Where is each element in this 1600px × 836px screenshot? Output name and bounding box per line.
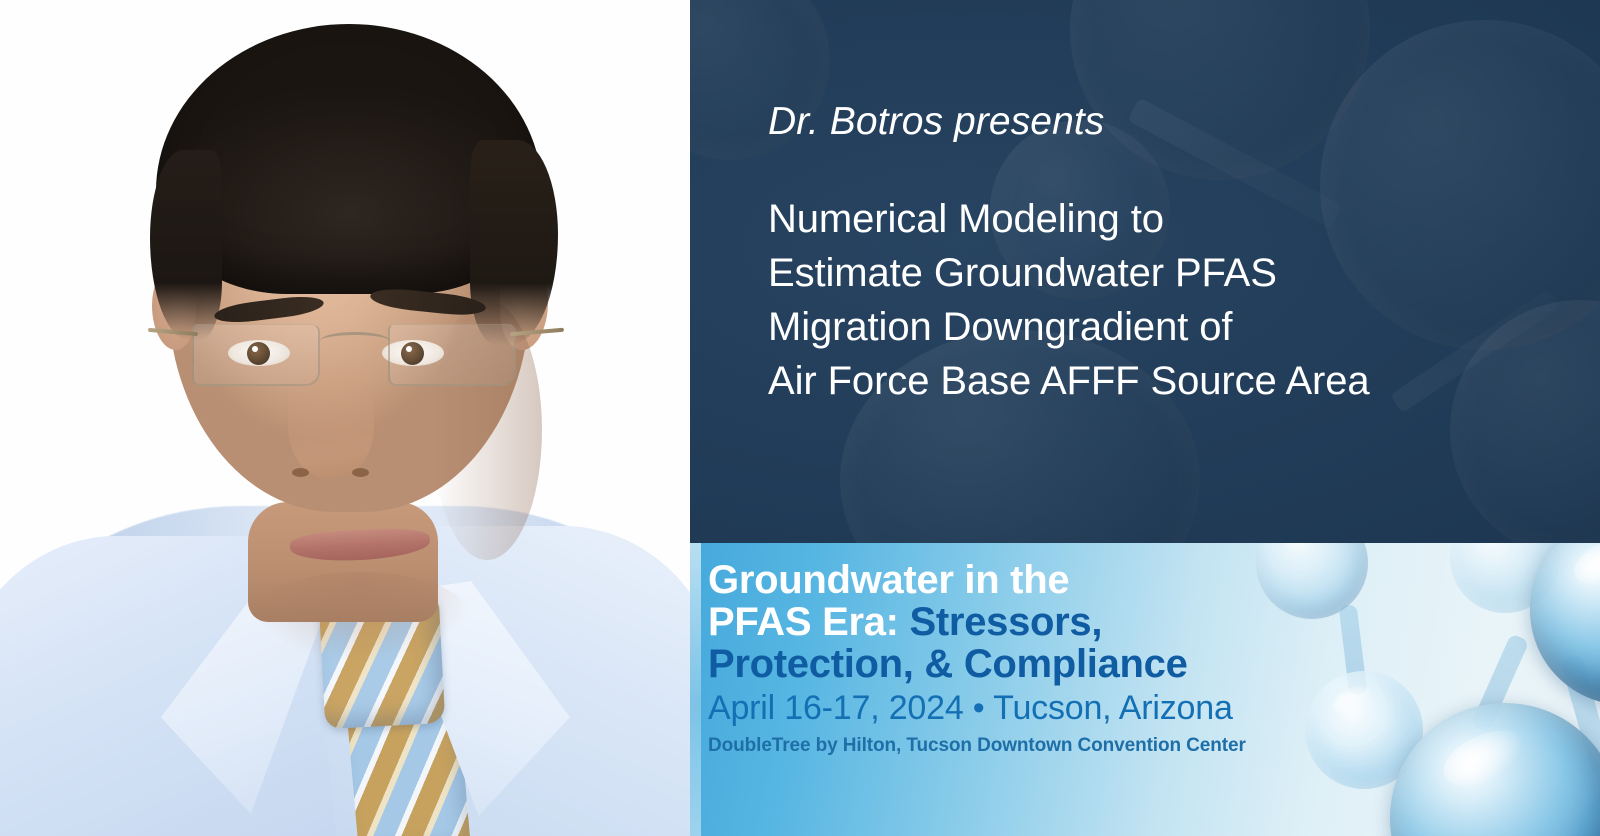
nostril-right	[352, 468, 369, 477]
lens-right	[388, 324, 516, 386]
title-line-2: Estimate Groundwater PFAS	[768, 246, 1370, 300]
event-venue: DoubleTree by Hilton, Tucson Downtown Co…	[708, 735, 1348, 757]
title-line-1: Numerical Modeling to	[768, 192, 1370, 246]
speaker-photo	[0, 0, 690, 836]
conference-name-line-1: Groundwater in the	[708, 559, 1348, 601]
nose-shape	[288, 366, 374, 478]
conference-name-line-2-blue: Stressors,	[910, 600, 1103, 644]
banner-edge-strip	[690, 543, 701, 836]
glasses-bridge	[320, 332, 390, 341]
chin-shadow	[250, 572, 470, 662]
presents-eyebrow: Dr. Botros presents	[768, 100, 1104, 144]
molecule-sphere-icon	[1530, 543, 1600, 705]
title-line-4: Air Force Base AFFF Source Area	[768, 354, 1370, 408]
presentation-title: Numerical Modeling to Estimate Groundwat…	[768, 192, 1370, 408]
sphere-highlight	[1472, 543, 1519, 548]
conference-name-line-3: Protection, & Compliance	[708, 643, 1348, 685]
conference-name-line-2: PFAS Era: Stressors,	[708, 601, 1348, 643]
promo-graphic: Dr. Botros presents Numerical Modeling t…	[0, 0, 1600, 836]
event-text-block: Groundwater in the PFAS Era: Stressors, …	[708, 555, 1348, 757]
sphere-highlight	[1567, 543, 1600, 593]
nostril-left	[292, 468, 309, 477]
event-banner: Groundwater in the PFAS Era: Stressors, …	[690, 543, 1600, 836]
sphere-highlight	[1278, 543, 1326, 553]
title-panel: Dr. Botros presents Numerical Modeling t…	[690, 0, 1600, 543]
conference-name-line-2-white: PFAS Era:	[708, 600, 899, 644]
title-line-3: Migration Downgradient of	[768, 300, 1370, 354]
event-date-location: April 16-17, 2024 • Tucson, Arizona	[708, 689, 1348, 728]
photo-canvas	[0, 0, 690, 836]
sphere-highlight	[1435, 719, 1534, 797]
